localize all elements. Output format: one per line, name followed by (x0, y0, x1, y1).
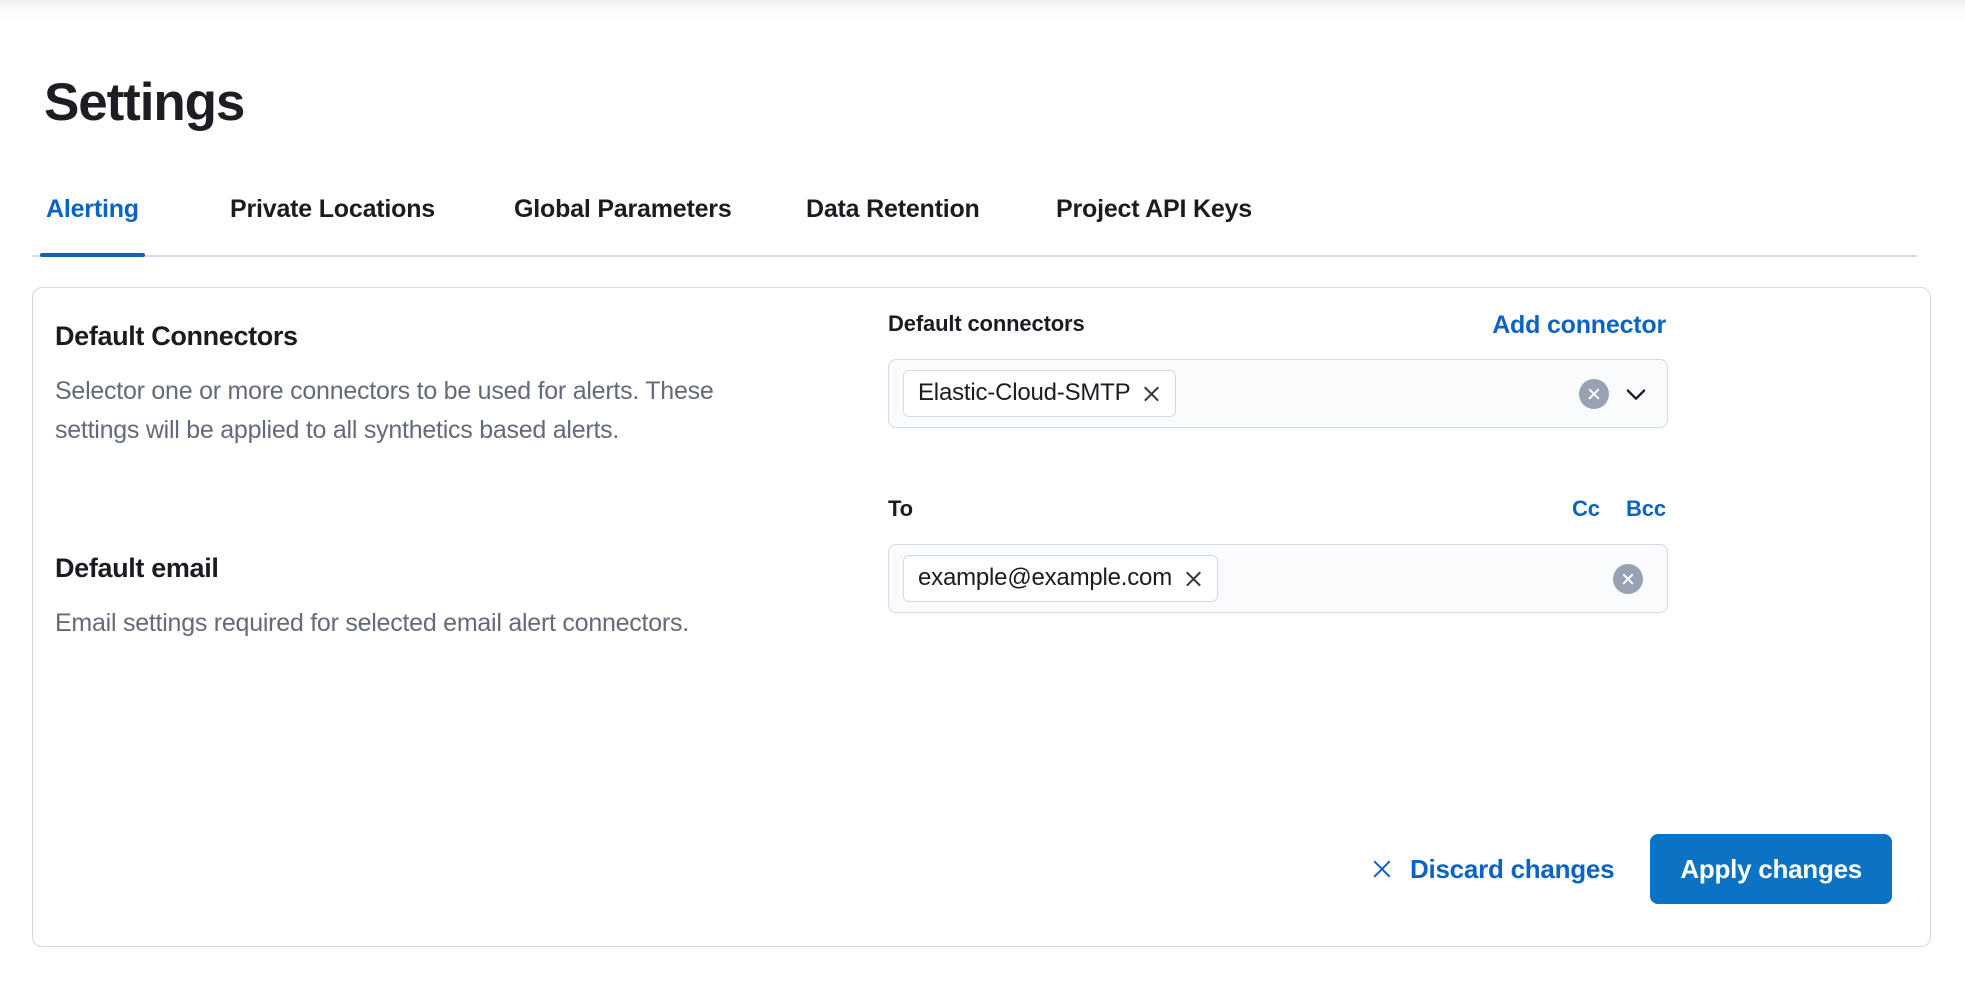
chevron-down-icon[interactable] (1621, 379, 1651, 409)
default-connectors-field-group: Default connectors Add connector Elastic… (888, 311, 1668, 428)
to-label: To (888, 496, 913, 522)
tab-private-locations[interactable]: Private Locations (216, 195, 449, 257)
default-email-field-header: To Cc Bcc (888, 496, 1668, 530)
discard-changes-label: Discard changes (1410, 854, 1614, 885)
connector-pill[interactable]: Elastic-Cloud-SMTP (903, 370, 1176, 417)
section-default-email-copy: Default email Email settings required fo… (55, 553, 795, 643)
settings-page: Settings Alerting Private Locations Glob… (0, 0, 1965, 989)
section-description-default-connectors: Selector one or more connectors to be us… (55, 372, 785, 450)
apply-changes-button[interactable]: Apply changes (1650, 834, 1892, 904)
recipient-pill-label: example@example.com (918, 563, 1172, 593)
email-cc-bcc-actions: Cc Bcc (1572, 496, 1666, 522)
bcc-link[interactable]: Bcc (1626, 496, 1666, 522)
settings-panel: Default Connectors Selector one or more … (32, 287, 1931, 947)
section-title-default-email: Default email (55, 553, 795, 584)
recipient-pill-remove-icon[interactable] (1184, 569, 1203, 588)
connector-pill-label: Elastic-Cloud-SMTP (918, 378, 1130, 408)
header-shadow (0, 0, 1965, 22)
page-title: Settings (44, 72, 244, 134)
panel-footer-actions: Discard changes Apply changes (1365, 834, 1892, 904)
close-icon (1371, 858, 1393, 880)
section-description-default-email: Email settings required for selected ema… (55, 604, 785, 643)
clear-connectors-icon[interactable] (1579, 379, 1609, 409)
tab-bar: Alerting Private Locations Global Parame… (32, 180, 1917, 257)
discard-changes-button[interactable]: Discard changes (1365, 844, 1620, 895)
section-default-connectors-copy: Default Connectors Selector one or more … (55, 321, 795, 450)
add-connector-link[interactable]: Add connector (1492, 311, 1666, 340)
tab-global-parameters[interactable]: Global Parameters (500, 195, 746, 257)
tab-data-retention[interactable]: Data Retention (792, 195, 994, 257)
tab-project-api-keys[interactable]: Project API Keys (1042, 195, 1266, 257)
tab-alerting[interactable]: Alerting (32, 195, 153, 257)
cc-link[interactable]: Cc (1572, 496, 1600, 522)
clear-recipients-icon[interactable] (1613, 564, 1643, 594)
to-recipients-combobox[interactable]: example@example.com (888, 544, 1668, 613)
default-connectors-label: Default connectors (888, 311, 1085, 337)
default-email-field-group: To Cc Bcc example@example.com (888, 496, 1668, 613)
connector-pill-remove-icon[interactable] (1142, 384, 1161, 403)
default-connectors-actions: Add connector (1492, 311, 1666, 340)
recipient-pill[interactable]: example@example.com (903, 555, 1218, 602)
default-connectors-combobox[interactable]: Elastic-Cloud-SMTP (888, 359, 1668, 428)
section-title-default-connectors: Default Connectors (55, 321, 795, 352)
default-connectors-field-header: Default connectors Add connector (888, 311, 1668, 345)
